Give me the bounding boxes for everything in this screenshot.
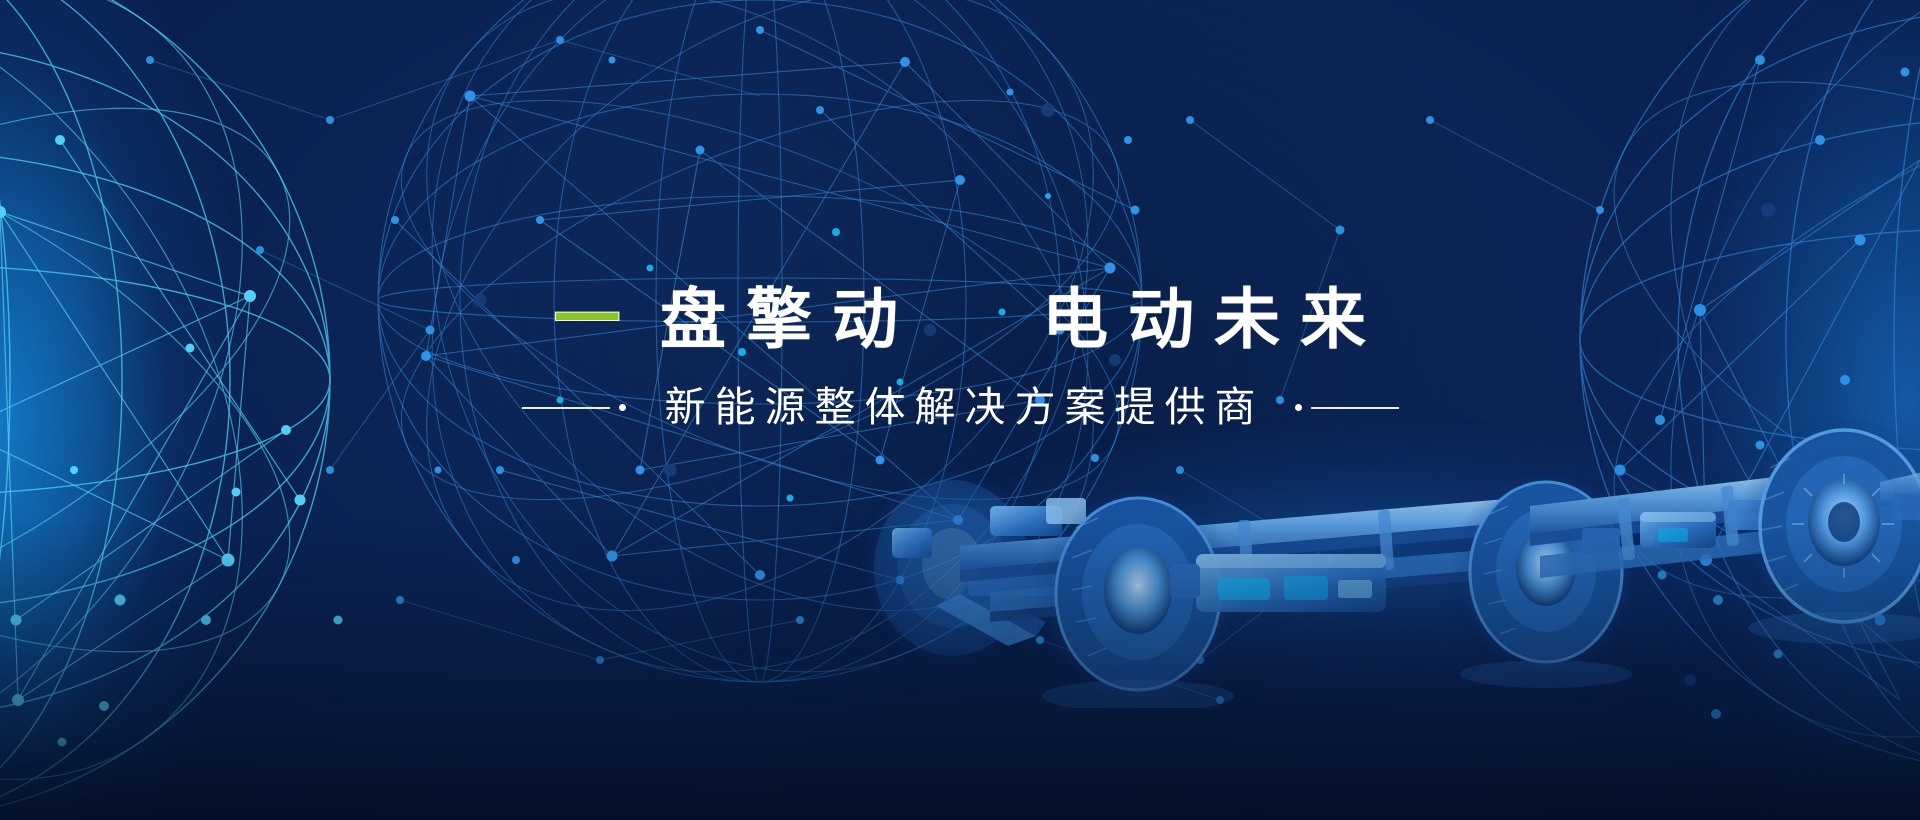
banner-stage: 一 盘擎动 电动未来 新能源整体解决方案提供商 [0, 0, 1920, 820]
rule-right-icon [1311, 407, 1399, 409]
headline-accent-char: 一 [534, 286, 640, 352]
headline: 一 盘擎动 电动未来 [0, 286, 1920, 352]
background-bottom-fade [0, 520, 1920, 820]
subtitle-left-decoration [522, 404, 626, 411]
dot-right-icon [1295, 404, 1302, 411]
dot-left-icon [619, 404, 626, 411]
headline-block: 一 盘擎动 电动未来 新能源整体解决方案提供商 [0, 286, 1920, 433]
subtitle-row: 新能源整体解决方案提供商 [0, 382, 1920, 433]
headline-segment-one: 盘擎动 [640, 286, 918, 352]
subtitle: 新能源整体解决方案提供商 [626, 382, 1295, 433]
headline-segment-two: 电动未来 [1022, 286, 1386, 352]
rule-left-icon [522, 407, 610, 409]
subtitle-right-decoration [1295, 404, 1399, 411]
